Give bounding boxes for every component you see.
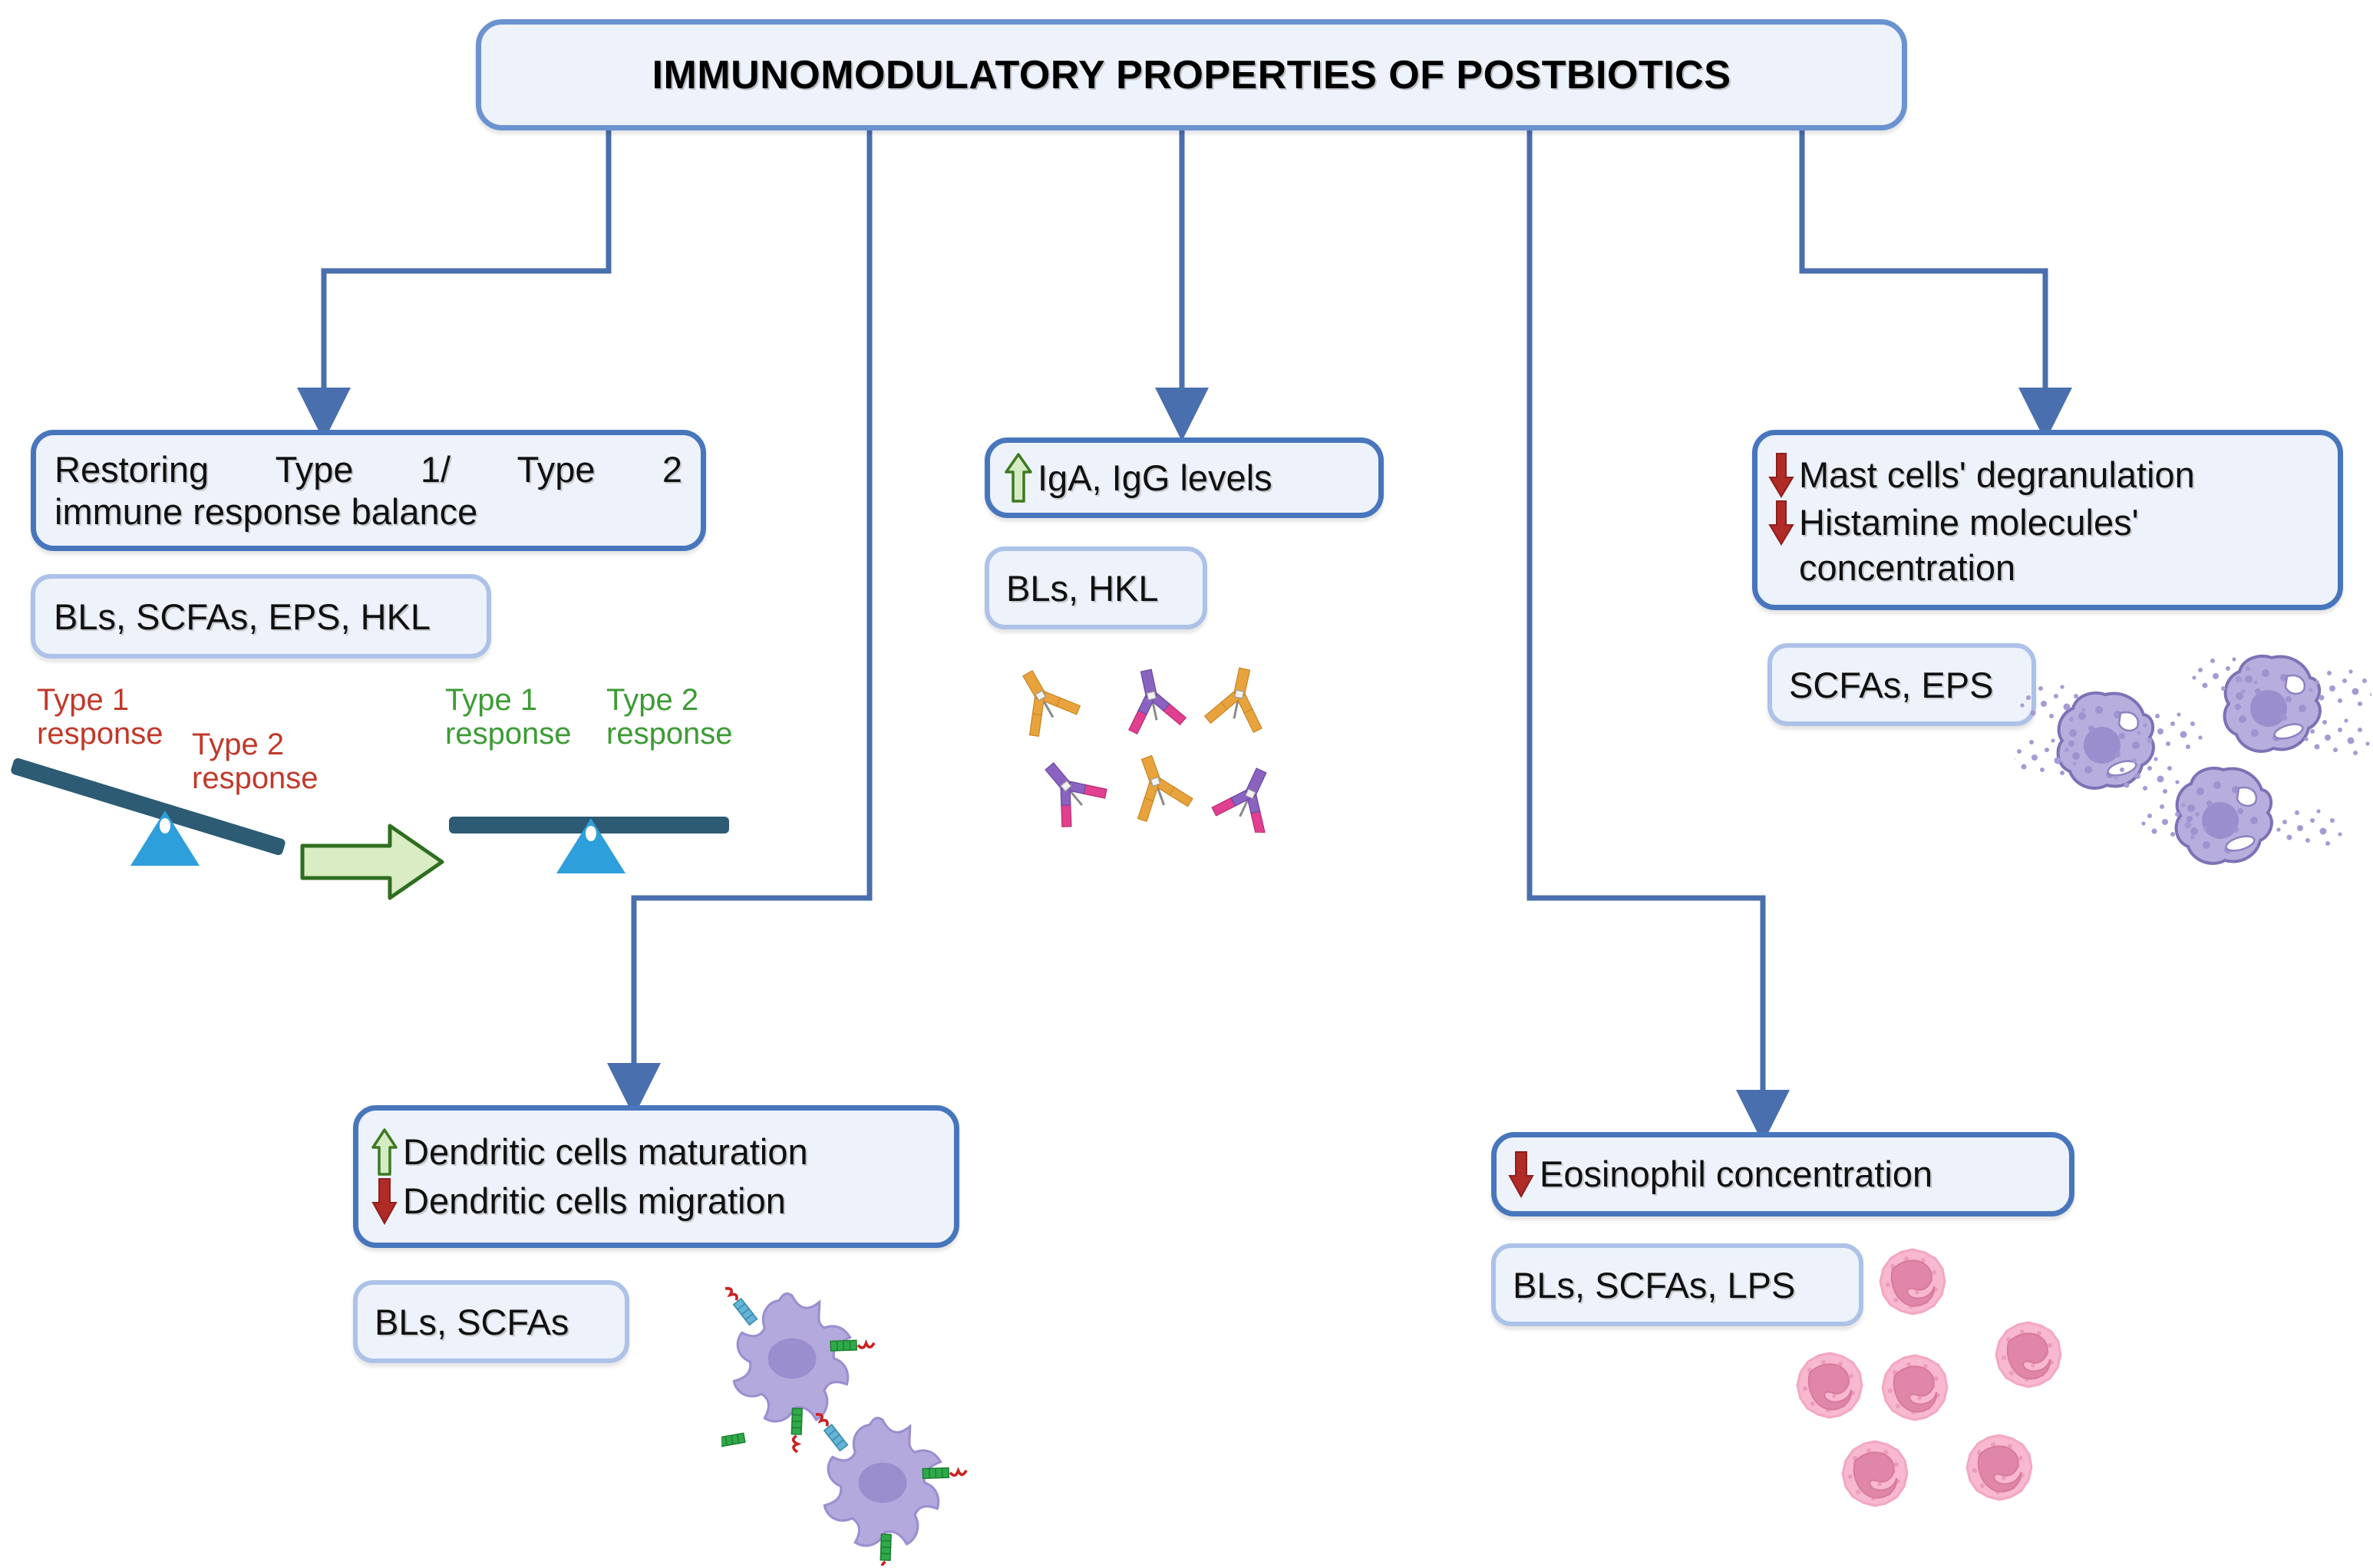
eosinophils-illustration	[1788, 1243, 2095, 1550]
up-arrow-icon	[371, 1127, 398, 1177]
down-arrow-icon	[1768, 499, 1794, 546]
statement-box-dendritic-cells: Dendritic cells maturation Dendritic cel…	[353, 1105, 959, 1248]
postbiotics-label: BLs, HKL	[1006, 567, 1159, 609]
statement-box-eosinophils: Eosinophil concentration	[1491, 1132, 2074, 1216]
up-arrow-icon	[1004, 452, 1033, 504]
statement-text-2: Histamine molecules'	[1799, 501, 2139, 543]
postbiotics-label: BLs, SCFAs, EPS, HKL	[54, 596, 431, 638]
seesaw-fulcrum-level	[549, 815, 633, 876]
statement-box-immunoglobulins: IgA, IgG levels	[985, 437, 1384, 518]
postbiotics-label: SCFAs, EPS	[1789, 664, 1993, 706]
statement-text-immunoglobulins: IgA, IgG levels	[1038, 457, 1272, 499]
down-arrow-icon	[1507, 1150, 1535, 1199]
statement-text-2: Dendritic cells migration	[403, 1180, 786, 1222]
statement-text-eosinophils: Eosinophil concentration	[1540, 1153, 1932, 1195]
statement-line-dc-maturation: Dendritic cells maturation	[371, 1127, 808, 1177]
antibodies-illustration	[1005, 649, 1335, 833]
seesaw-fulcrum-tilted	[123, 807, 207, 869]
diagram-title-box: IMMUNOMODULATORY PROPERTIES OF POSTBIOTI…	[476, 19, 1907, 130]
diagram-canvas: IMMUNOMODULATORY PROPERTIES OF POSTBIOTI…	[0, 0, 2373, 1568]
seesaw-label-type2-before: Type 2 response	[192, 728, 318, 795]
statement-line-dc-migration: Dendritic cells migration	[371, 1177, 786, 1226]
statement-line-mast-degranulation: Mast cells' degranulation	[1768, 451, 2195, 499]
statement-box-mast-cells: Mast cells' degranulation Histamine mole…	[1752, 430, 2343, 610]
postbiotics-label: BLs, SCFAs	[375, 1301, 569, 1343]
postbiotics-tag-mast-cells: SCFAs, EPS	[1767, 643, 2036, 726]
postbiotics-tag-type-balance: BLs, SCFAs, EPS, HKL	[31, 574, 491, 659]
seesaw-illustration: Type 1 response Type 2 response Type 1 r…	[0, 683, 752, 875]
statement-line-histamine: Histamine molecules'	[1768, 499, 2139, 546]
statement-text-1: Dendritic cells maturation	[403, 1131, 808, 1173]
page-title: IMMUNOMODULATORY PROPERTIES OF POSTBIOTI…	[652, 52, 1731, 98]
down-arrow-icon	[1768, 451, 1794, 499]
statement-box-type-balance: Restoring Type 1/ Type 2 immune response…	[31, 430, 706, 551]
dendritic-cells-illustration	[721, 1274, 982, 1566]
statement-line-1: Restoring Type 1/ Type 2	[54, 448, 682, 490]
postbiotics-tag-dendritic-cells: BLs, SCFAs	[353, 1280, 629, 1363]
statement-text-3: concentration	[1768, 546, 2015, 589]
transition-arrow-icon	[299, 820, 445, 904]
seesaw-label-type1-after: Type 1 response	[445, 683, 572, 751]
statement-text-1: Mast cells' degranulation	[1799, 454, 2195, 496]
statement-line-2: immune response balance	[54, 490, 477, 533]
postbiotics-tag-immunoglobulins: BLs, HKL	[985, 546, 1207, 629]
mast-cells-illustration	[2015, 641, 2371, 894]
postbiotics-label: BLs, SCFAs, LPS	[1513, 1264, 1795, 1306]
seesaw-label-type2-after: Type 2 response	[606, 683, 733, 751]
seesaw-label-type1-before: Type 1 response	[37, 683, 163, 751]
down-arrow-icon	[371, 1177, 398, 1226]
